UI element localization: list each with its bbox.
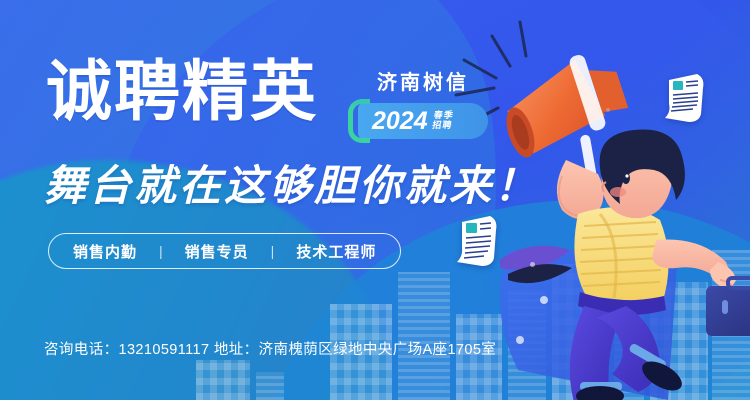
job-position-3[interactable]: 技术工程师	[296, 241, 376, 262]
job-position-2[interactable]: 销售专员	[185, 241, 249, 262]
subtitle: 舞台就在这够胆你就来！	[44, 152, 539, 213]
brand-block: 济南树信 2024 春 季 招 聘	[358, 66, 488, 139]
year-badge: 2024 春 季 招 聘	[358, 103, 488, 139]
green-accent-stroke	[348, 99, 370, 143]
season-char: 聘	[441, 121, 451, 131]
job-positions-pill: 销售内勤 | 销售专员 | 技术工程师	[48, 233, 401, 269]
season-char: 招	[431, 121, 441, 131]
job-separator: |	[249, 243, 297, 259]
job-position-1[interactable]: 销售内勤	[73, 241, 137, 262]
page-title: 诚聘精英	[46, 58, 318, 124]
job-separator: |	[137, 243, 185, 259]
recruitment-banner: 诚聘精英 济南树信 2024 春 季 招 聘 舞台就在这够胆你就来！ 销售内勤 …	[0, 0, 750, 400]
company-name: 济南树信	[358, 66, 488, 95]
text-content: 诚聘精英 济南树信 2024 春 季 招 聘 舞台就在这够胆你就来！ 销售内勤 …	[0, 0, 750, 400]
headline-row: 诚聘精英	[46, 58, 318, 124]
contact-info: 咨询电话：13210591117 地址：济南槐荫区绿地中央广场A座1705室	[44, 338, 496, 359]
season-label: 春 季 招 聘	[431, 111, 453, 131]
year-label: 2024	[372, 109, 428, 134]
